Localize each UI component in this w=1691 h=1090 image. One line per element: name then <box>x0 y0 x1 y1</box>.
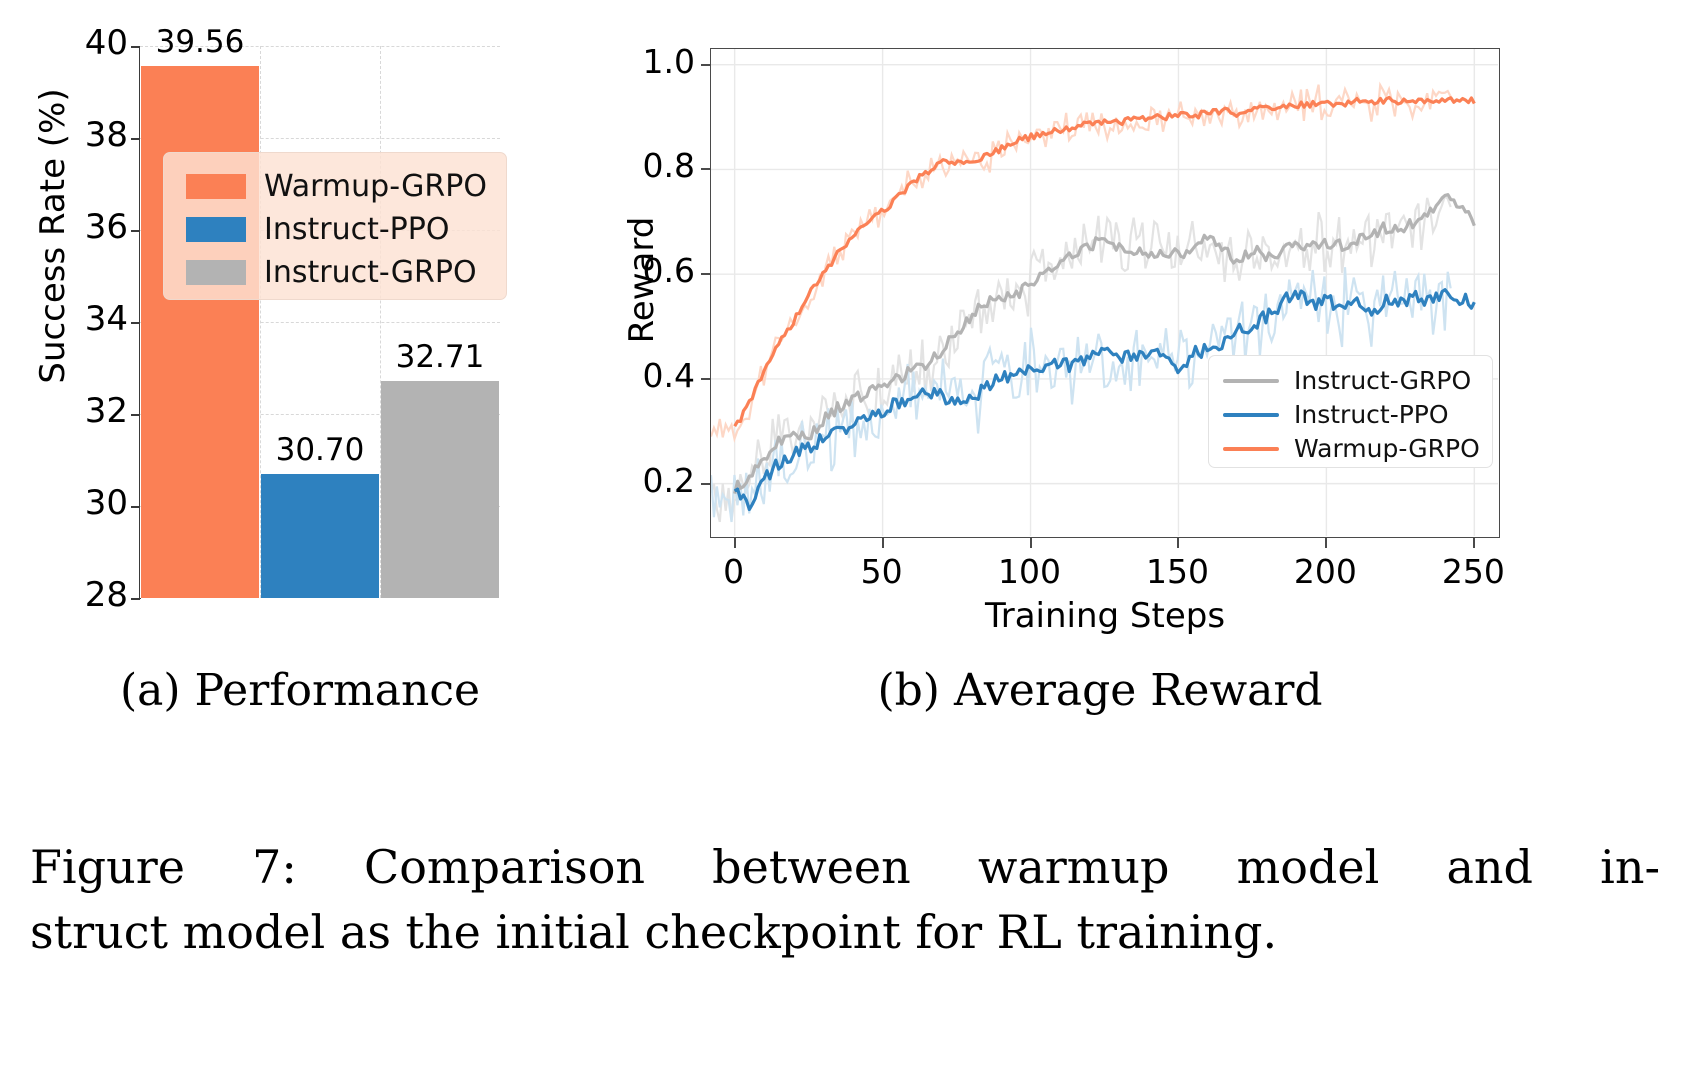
bar-chart-y-tick-mark <box>131 598 140 600</box>
bar-chart-value-label: 30.70 <box>261 432 379 468</box>
line-chart-legend-label: Instruct-PPO <box>1294 400 1449 429</box>
line-chart-legend-item: Instruct-GRPO <box>1223 364 1492 397</box>
line-chart-y-tick-mark <box>701 64 710 66</box>
bar-chart-y-tick-label: 40 <box>8 23 128 63</box>
line-chart-x-tick-label: 200 <box>1275 552 1375 591</box>
average-reward-line-chart-panel: Reward Training Steps 0.20.40.60.81.0 05… <box>600 0 1691 640</box>
line-chart-legend-item: Warmup-GRPO <box>1223 432 1492 465</box>
line-chart-x-tick-mark <box>1325 538 1327 548</box>
line-chart-x-tick-mark <box>1177 538 1179 548</box>
bar-chart-y-tick-label: 32 <box>8 391 128 431</box>
line-chart-legend-swatch <box>1223 447 1279 451</box>
figure-caption-line-2: struct model as the initial checkpoint f… <box>30 900 1660 965</box>
line-chart-x-axis-title: Training Steps <box>710 596 1500 636</box>
line-chart-y-tick-mark <box>701 168 710 170</box>
figure-caption: Figure 7: Comparison between warmup mode… <box>30 835 1660 966</box>
line-chart-y-tick-label: 0.4 <box>600 356 695 395</box>
line-chart-y-tick-mark <box>701 483 710 485</box>
bar-chart-y-tick-mark <box>131 46 140 48</box>
line-chart-x-tick-label: 150 <box>1127 552 1227 591</box>
bar-chart-y-tick-label: 36 <box>8 207 128 247</box>
bar-chart-legend-label: Instruct-PPO <box>264 212 449 247</box>
bar-chart-legend-item: Instruct-GRPO <box>186 252 506 293</box>
bar-chart-legend-item: Instruct-PPO <box>186 209 506 250</box>
line-chart-x-tick-label: 0 <box>684 552 784 591</box>
bar-chart-y-tick-mark <box>131 230 140 232</box>
line-chart-y-tick-label: 1.0 <box>600 42 695 81</box>
line-chart-x-tick-mark <box>1473 538 1475 548</box>
bar-chart-y-tick-mark <box>131 414 140 416</box>
bar-chart-bar <box>261 474 379 598</box>
line-chart-legend-swatch <box>1223 413 1279 417</box>
bar-chart-bar <box>141 66 259 598</box>
bar-chart-value-label: 32.71 <box>381 339 499 375</box>
line-chart-y-tick-mark <box>701 273 710 275</box>
subcaption-b: (b) Average Reward <box>600 665 1600 716</box>
line-chart-legend-item: Instruct-PPO <box>1223 398 1492 431</box>
bar-chart-legend-swatch <box>186 260 246 285</box>
line-chart-y-tick-mark <box>701 378 710 380</box>
bar-chart-y-tick-label: 28 <box>8 575 128 615</box>
bar-chart-bar <box>381 381 499 598</box>
bar-chart-y-tick-mark <box>131 506 140 508</box>
bar-chart-y-tick-label: 38 <box>8 115 128 155</box>
line-chart-y-tick-label: 0.6 <box>600 251 695 290</box>
bar-chart-value-label: 39.56 <box>141 24 259 60</box>
line-chart-y-tick-label: 0.2 <box>600 461 695 500</box>
bar-chart-legend-item: Warmup-GRPO <box>186 166 506 207</box>
line-chart-x-tick-mark <box>1030 538 1032 548</box>
line-chart-legend: Instruct-GRPOInstruct-PPOWarmup-GRPO <box>1208 355 1493 468</box>
line-chart-x-tick-label: 250 <box>1423 552 1523 591</box>
line-chart-legend-label: Instruct-GRPO <box>1294 366 1471 395</box>
subcaption-a: (a) Performance <box>0 665 600 716</box>
performance-bar-chart-panel: Success Rate (%) 28303234363840 39.5630.… <box>0 0 600 640</box>
line-chart-x-tick-label: 100 <box>980 552 1080 591</box>
line-chart-legend-swatch <box>1223 379 1279 383</box>
bar-chart-legend: Warmup-GRPOInstruct-PPOInstruct-GRPO <box>163 152 507 300</box>
bar-chart-y-tick-label: 34 <box>8 299 128 339</box>
figure-caption-line-1: Figure 7: Comparison between warmup mode… <box>30 835 1660 900</box>
bar-chart-y-tick-mark <box>131 322 140 324</box>
line-chart-legend-label: Warmup-GRPO <box>1294 434 1480 463</box>
line-chart-y-tick-label: 0.8 <box>600 146 695 185</box>
bar-chart-y-tick-mark <box>131 138 140 140</box>
bar-chart-legend-label: Warmup-GRPO <box>264 169 487 204</box>
line-chart-x-tick-mark <box>882 538 884 548</box>
bar-chart-legend-swatch <box>186 217 246 242</box>
bar-chart-legend-label: Instruct-GRPO <box>264 255 477 290</box>
line-chart-x-tick-label: 50 <box>832 552 932 591</box>
bar-chart-y-tick-label: 30 <box>8 483 128 523</box>
bar-chart-plot-area <box>140 46 500 598</box>
bar-chart-legend-swatch <box>186 174 246 199</box>
line-chart-x-tick-mark <box>734 538 736 548</box>
